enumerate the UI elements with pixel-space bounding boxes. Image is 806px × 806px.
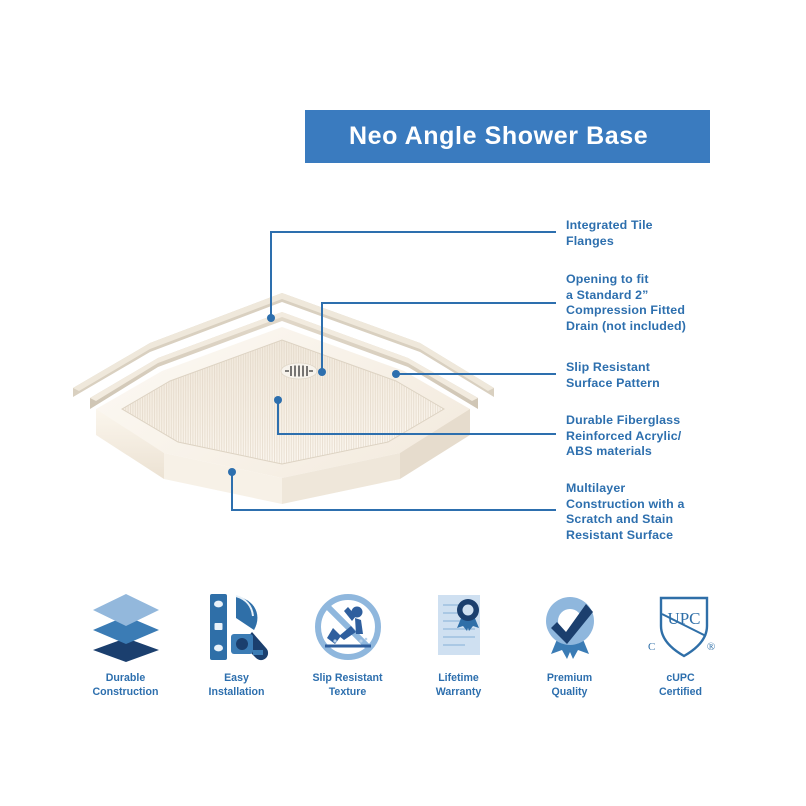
upc-right-mark: ® <box>706 641 714 653</box>
feature-cupc-certified: UPC C ® cUPC Certified <box>625 588 736 713</box>
layers-icon <box>89 588 163 666</box>
upc-shield-text: UPC <box>667 609 700 628</box>
check-rosette-icon <box>533 588 607 666</box>
certificate-icon <box>422 588 496 666</box>
callout-drain-opening: Opening to fit a Standard 2” Compression… <box>566 272 686 334</box>
feature-lifetime-warranty: Lifetime Warranty <box>403 588 514 713</box>
feature-label: Slip Resistant Texture <box>312 672 382 699</box>
page-title: Neo Angle Shower Base <box>349 122 648 151</box>
upc-shield-icon: UPC C ® <box>641 588 721 666</box>
feature-label: Easy Installation <box>209 672 265 699</box>
callout-integrated-tile-flanges: Integrated Tile Flanges <box>566 218 653 249</box>
callout-multilayer-construction: Multilayer Construction with a Scratch a… <box>566 481 685 543</box>
feature-label: Premium Quality <box>547 672 592 699</box>
callout-durable-materials: Durable Fiberglass Reinforced Acrylic/ A… <box>566 413 681 460</box>
trowel-level-icon <box>200 588 274 666</box>
feature-label: cUPC Certified <box>659 672 702 699</box>
no-slip-icon <box>311 588 385 666</box>
infographic-canvas: Neo Angle Shower Base <box>0 0 806 806</box>
feature-slip-resistant: Slip Resistant Texture <box>292 588 403 713</box>
feature-premium-quality: Premium Quality <box>514 588 625 713</box>
feature-label: Durable Construction <box>93 672 159 699</box>
product-illustration <box>70 285 550 510</box>
feature-badges: Durable Construction Easy <box>70 588 736 713</box>
drain-grate <box>281 363 317 379</box>
upc-left-mark: C <box>648 641 655 653</box>
feature-easy-installation: Easy Installation <box>181 588 292 713</box>
title-banner: Neo Angle Shower Base <box>305 110 710 163</box>
feature-durable-construction: Durable Construction <box>70 588 181 713</box>
callout-slip-resistant-surface: Slip Resistant Surface Pattern <box>566 360 660 391</box>
feature-label: Lifetime Warranty <box>436 672 482 699</box>
